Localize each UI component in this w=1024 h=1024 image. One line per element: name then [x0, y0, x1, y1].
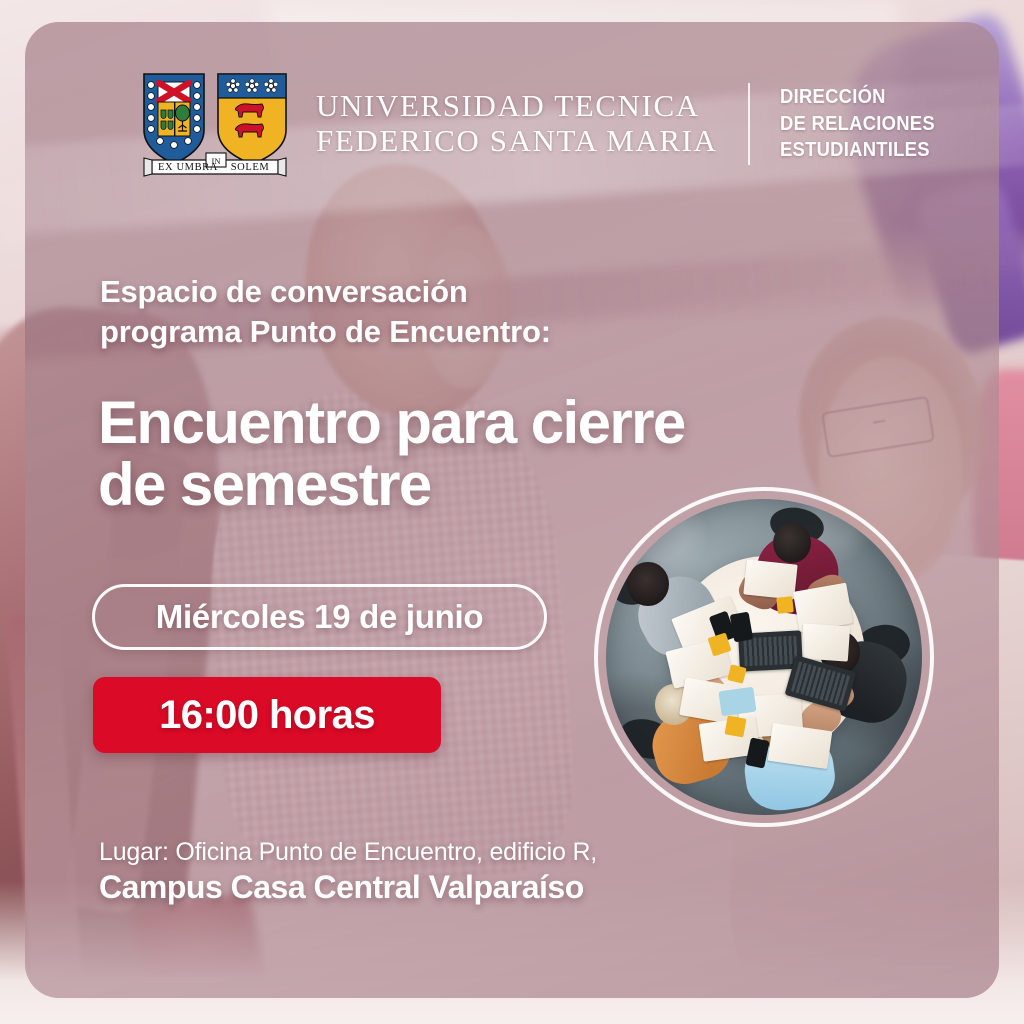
- photo-ring-border: [594, 487, 934, 827]
- crest-motto-left: EX UMBRA: [158, 162, 218, 173]
- event-kicker-line2: programa Punto de Encuentro:: [100, 312, 740, 352]
- unit-name-line2: DE RELACIONES: [780, 111, 935, 137]
- event-kicker: Espacio de conversación programa Punto d…: [100, 272, 740, 353]
- unit-name-line3: ESTUDIANTILES: [780, 137, 935, 163]
- event-date-text: Miércoles 19 de junio: [156, 598, 483, 636]
- university-name-line2: FEDERICO SANTA MARIA: [316, 124, 718, 159]
- crest-motto-center: IN: [212, 156, 221, 166]
- unit-name: DIRECCIÓN DE RELACIONES ESTUDIANTILES: [780, 84, 948, 163]
- poster-content: EX UMBRA IN SOLEM UNIVERSIDAD TECNICA FE…: [0, 0, 1024, 1024]
- event-kicker-line1: Espacio de conversación: [100, 272, 740, 312]
- event-location-line2: Campus Casa Central Valparaíso: [99, 868, 739, 907]
- event-title-line1: Encuentro para cierre: [98, 392, 758, 454]
- event-time-badge: 16:00 horas: [93, 677, 441, 753]
- event-date-pill: Miércoles 19 de junio: [92, 584, 547, 650]
- university-name: UNIVERSIDAD TECNICA FEDERICO SANTA MARIA: [316, 89, 718, 158]
- university-name-line1: UNIVERSIDAD TECNICA: [316, 89, 718, 124]
- study-group-photo: [594, 487, 934, 861]
- header-divider: [748, 83, 750, 165]
- usm-crest-icon: EX UMBRA IN SOLEM: [136, 68, 294, 180]
- poster-canvas: EX UMBRA IN SOLEM UNIVERSIDAD TECNICA FE…: [0, 0, 1024, 1024]
- event-time-text: 16:00 horas: [159, 693, 375, 738]
- crest-motto-right: SOLEM: [231, 162, 270, 173]
- poster-header: EX UMBRA IN SOLEM UNIVERSIDAD TECNICA FE…: [136, 68, 948, 180]
- unit-name-line1: DIRECCIÓN: [780, 84, 935, 110]
